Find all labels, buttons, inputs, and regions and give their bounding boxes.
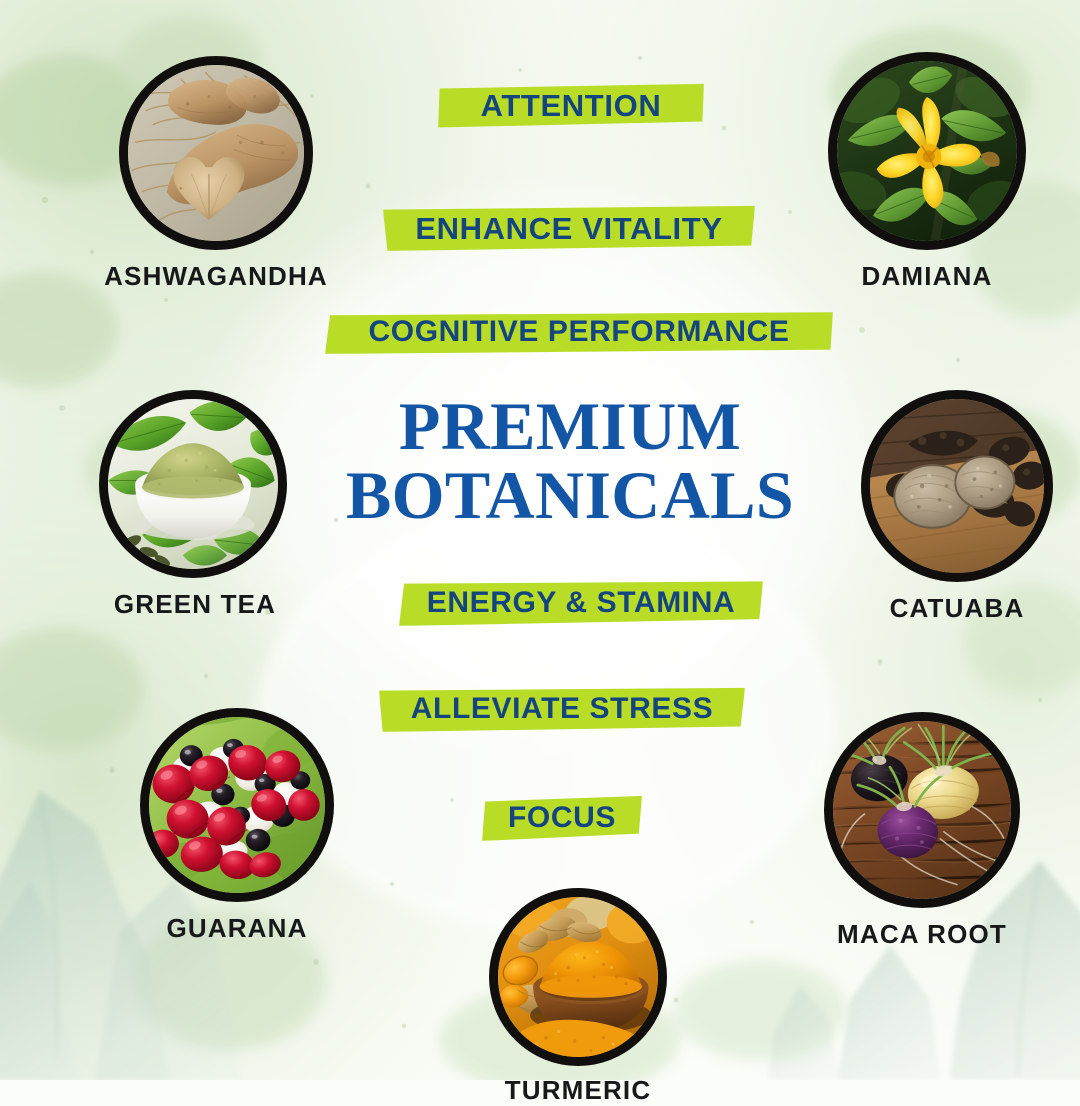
guarana-berries-photo — [140, 708, 334, 902]
benefit-label: ENERGY & STAMINA — [427, 588, 736, 618]
benefit-label: ALLEVIATE STRESS — [411, 694, 713, 724]
maca-root-photo — [824, 712, 1020, 908]
benefit-label: COGNITIVE PERFORMANCE — [369, 317, 790, 347]
ingredient-turmeric: TURMERIC — [478, 888, 678, 1106]
green-tea-powder-photo — [99, 390, 287, 578]
ingredient-label: MACA ROOT — [802, 919, 1042, 950]
ingredient-ashwagandha: ASHWAGANDHA — [91, 56, 341, 292]
title-line-1: PREMIUM — [300, 392, 840, 461]
ingredient-label: DAMIANA — [812, 261, 1042, 292]
benefit-alleviate-stress: ALLEVIATE STRESS — [379, 686, 745, 732]
benefit-energy-stamina: ENERGY & STAMINA — [399, 580, 763, 626]
ashwagandha-root-photo — [119, 56, 313, 250]
ingredient-label: GUARANA — [124, 913, 350, 944]
ingredient-label: CATUABA — [851, 593, 1063, 624]
ingredient-green-tea: GREEN TEA — [73, 390, 317, 620]
catuaba-bark-photo — [861, 390, 1053, 582]
benefit-label: ENHANCE VITALITY — [415, 213, 722, 244]
ingredient-label: ASHWAGANDHA — [91, 261, 341, 292]
benefit-attention: ATTENTION — [438, 82, 704, 128]
benefit-focus: FOCUS — [482, 795, 642, 841]
damiana-flower-photo — [828, 52, 1026, 250]
benefit-cognitive-performance: COGNITIVE PERFORMANCE — [325, 310, 833, 354]
benefit-label: FOCUS — [508, 803, 616, 833]
title-line-2: BOTANICALS — [300, 461, 840, 530]
benefit-label: ATTENTION — [481, 90, 662, 121]
ingredient-label: GREEN TEA — [73, 589, 317, 620]
ingredient-damiana: DAMIANA — [812, 52, 1042, 292]
turmeric-powder-photo — [489, 888, 667, 1066]
ingredient-guarana: GUARANA — [124, 708, 350, 944]
page-title: PREMIUM BOTANICALS — [300, 392, 840, 531]
ingredient-catuaba: CATUABA — [851, 390, 1063, 624]
ingredient-maca-root: MACA ROOT — [802, 712, 1042, 950]
benefit-enhance-vitality: ENHANCE VITALITY — [383, 205, 755, 251]
